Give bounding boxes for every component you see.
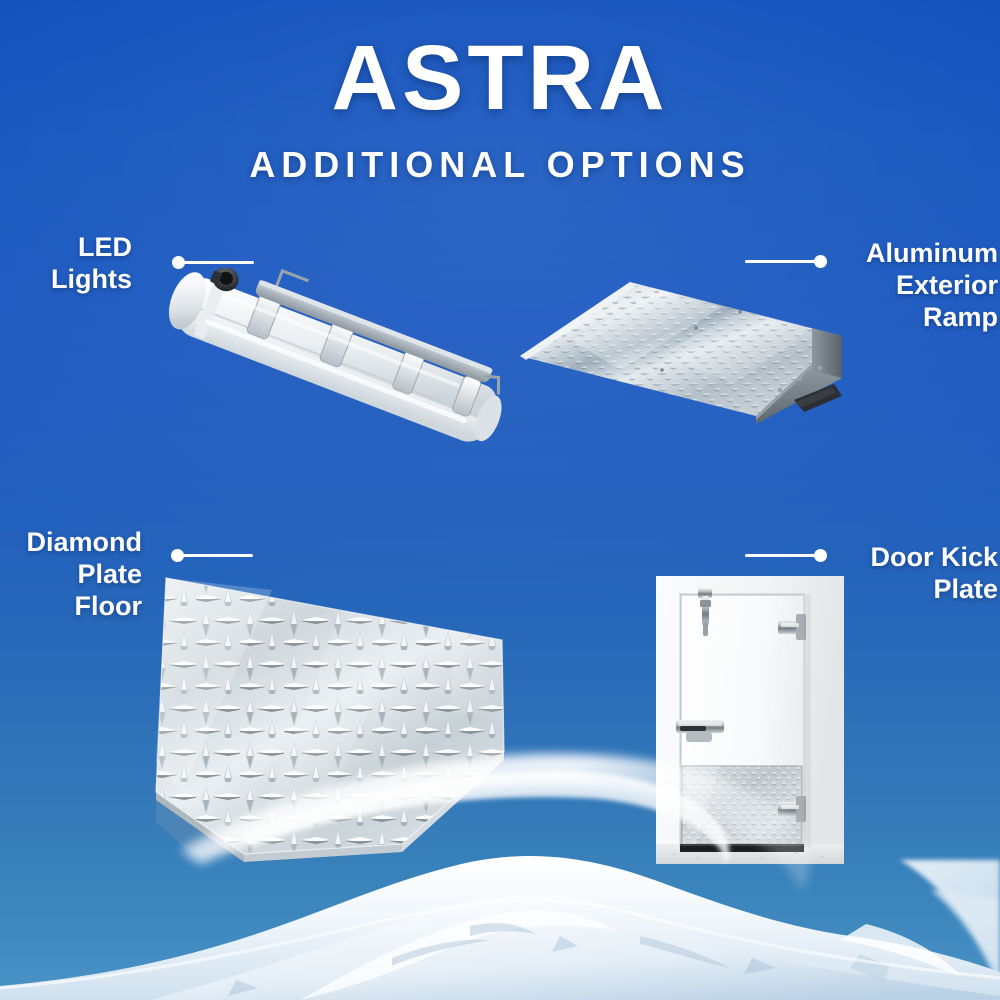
poster-header: ASTRA ADDITIONAL OPTIONS <box>0 0 1000 186</box>
callout-pointer-door-kick-plate <box>745 548 827 562</box>
led-light-fixture-image <box>150 268 522 452</box>
callout-pointer-led-lights <box>172 255 254 269</box>
aluminum-ramp-image <box>512 262 844 424</box>
callout-label-led-lights: LED Lights <box>0 232 132 296</box>
callout-label-aluminum-ramp: Aluminum Exterior Ramp <box>840 238 998 334</box>
pointer-line-icon <box>180 261 254 264</box>
pointer-line-icon <box>745 554 819 557</box>
page-title: ASTRA <box>0 32 1000 126</box>
callout-label-door-kick-plate: Door Kick Plate <box>840 542 998 606</box>
page-subtitle: ADDITIONAL OPTIONS <box>0 144 1000 186</box>
pointer-dot-icon <box>814 549 827 562</box>
poster-canvas: ASTRA ADDITIONAL OPTIONS LED Lights <box>0 0 1000 1000</box>
callout-pointer-diamond-plate-floor <box>171 548 253 562</box>
callout-label-diamond-plate-floor: Diamond Plate Floor <box>0 527 142 623</box>
ice-mountain-graphic <box>0 740 1000 1000</box>
pointer-line-icon <box>179 554 253 557</box>
